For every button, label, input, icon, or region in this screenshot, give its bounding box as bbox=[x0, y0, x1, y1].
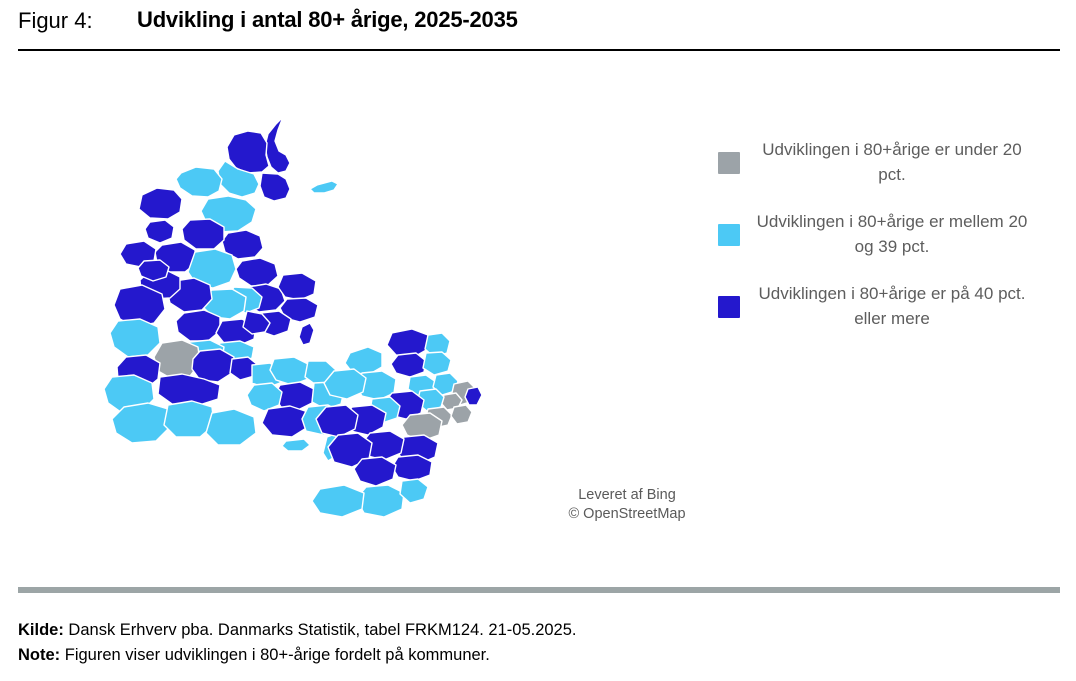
municipality-vesthimmerland bbox=[182, 219, 224, 249]
municipality-vordingborg bbox=[354, 457, 396, 486]
municipality-faxe bbox=[392, 455, 432, 481]
municipality-soenderborg bbox=[206, 409, 256, 445]
denmark-choropleth-map[interactable] bbox=[62, 89, 492, 559]
page-title: Udvikling i antal 80+ årige, 2025-2035 bbox=[137, 7, 518, 33]
figure-header: Figur 4: Udvikling i antal 80+ årige, 20… bbox=[0, 0, 1076, 50]
note-label: Note: bbox=[18, 646, 60, 664]
note-text: Figuren viser udviklingen i 80+-årige fo… bbox=[60, 646, 490, 664]
municipality-jammerbugt bbox=[176, 167, 222, 197]
municipality-taarnby bbox=[451, 405, 472, 424]
note-line: Note: Figuren viser udviklingen i 80+-år… bbox=[18, 643, 1038, 668]
footer-divider bbox=[18, 587, 1060, 593]
municipality-assens bbox=[247, 383, 282, 411]
figure-footer: Kilde: Dansk Erhverv pba. Danmarks Stati… bbox=[18, 618, 1038, 668]
municipality-varde bbox=[110, 319, 160, 357]
municipality-aeroe bbox=[282, 439, 310, 451]
source-line: Kilde: Dansk Erhverv pba. Danmarks Stati… bbox=[18, 618, 1038, 643]
map-attribution: Leveret af Bing © OpenStreetMap bbox=[507, 486, 747, 524]
municipality-hilleroed bbox=[391, 353, 426, 377]
municipality-thisted bbox=[139, 188, 182, 219]
legend-swatch-light-blue bbox=[718, 224, 740, 246]
source-text: Dansk Erhverv pba. Danmarks Statistik, t… bbox=[64, 621, 577, 639]
municipality-laesoe bbox=[310, 181, 338, 193]
municipality-norddjurs bbox=[278, 273, 316, 300]
municipality-mariagerfjord bbox=[236, 258, 278, 286]
figure-number-label: Figur 4: bbox=[18, 8, 93, 34]
municipality-fredensborg bbox=[423, 352, 451, 375]
legend-label-under-20: Udviklingen i 80+årige er under 20 pct. bbox=[756, 137, 1028, 187]
municipality-morsoe bbox=[145, 220, 174, 243]
figure-body: Leveret af Bing © OpenStreetMap Udviklin… bbox=[0, 51, 1076, 586]
municipality-ikast-brande bbox=[176, 310, 220, 341]
legend-item-40-plus[interactable]: Udviklingen i 80+årige er på 40 pct. ell… bbox=[718, 281, 1028, 331]
map-svg bbox=[62, 89, 492, 559]
legend-swatch-dark-blue bbox=[718, 296, 740, 318]
municipality-moen bbox=[400, 479, 428, 503]
municipality-samsoe bbox=[299, 323, 314, 345]
municipality-frederikshavn-south bbox=[260, 173, 290, 201]
map-attribution-openstreetmap: © OpenStreetMap bbox=[507, 505, 747, 524]
municipality-gribskov bbox=[387, 329, 428, 357]
map-legend: Udviklingen i 80+årige er under 20 pct. … bbox=[718, 137, 1028, 353]
municipality-amager bbox=[465, 387, 482, 405]
legend-swatch-gray bbox=[718, 152, 740, 174]
legend-label-40-plus: Udviklingen i 80+årige er på 40 pct. ell… bbox=[756, 281, 1028, 331]
figure-page: Figur 4: Udvikling i antal 80+ årige, 20… bbox=[0, 0, 1076, 681]
legend-item-under-20[interactable]: Udviklingen i 80+årige er under 20 pct. bbox=[718, 137, 1028, 187]
source-label: Kilde: bbox=[18, 621, 64, 639]
legend-item-20-39[interactable]: Udviklingen i 80+årige er mellem 20 og 3… bbox=[718, 209, 1028, 259]
municipality-lolland bbox=[312, 485, 364, 517]
municipality-faaborg bbox=[262, 406, 308, 437]
map-attribution-provider: Leveret af Bing bbox=[507, 486, 747, 505]
legend-label-20-39: Udviklingen i 80+årige er mellem 20 og 3… bbox=[756, 209, 1028, 259]
